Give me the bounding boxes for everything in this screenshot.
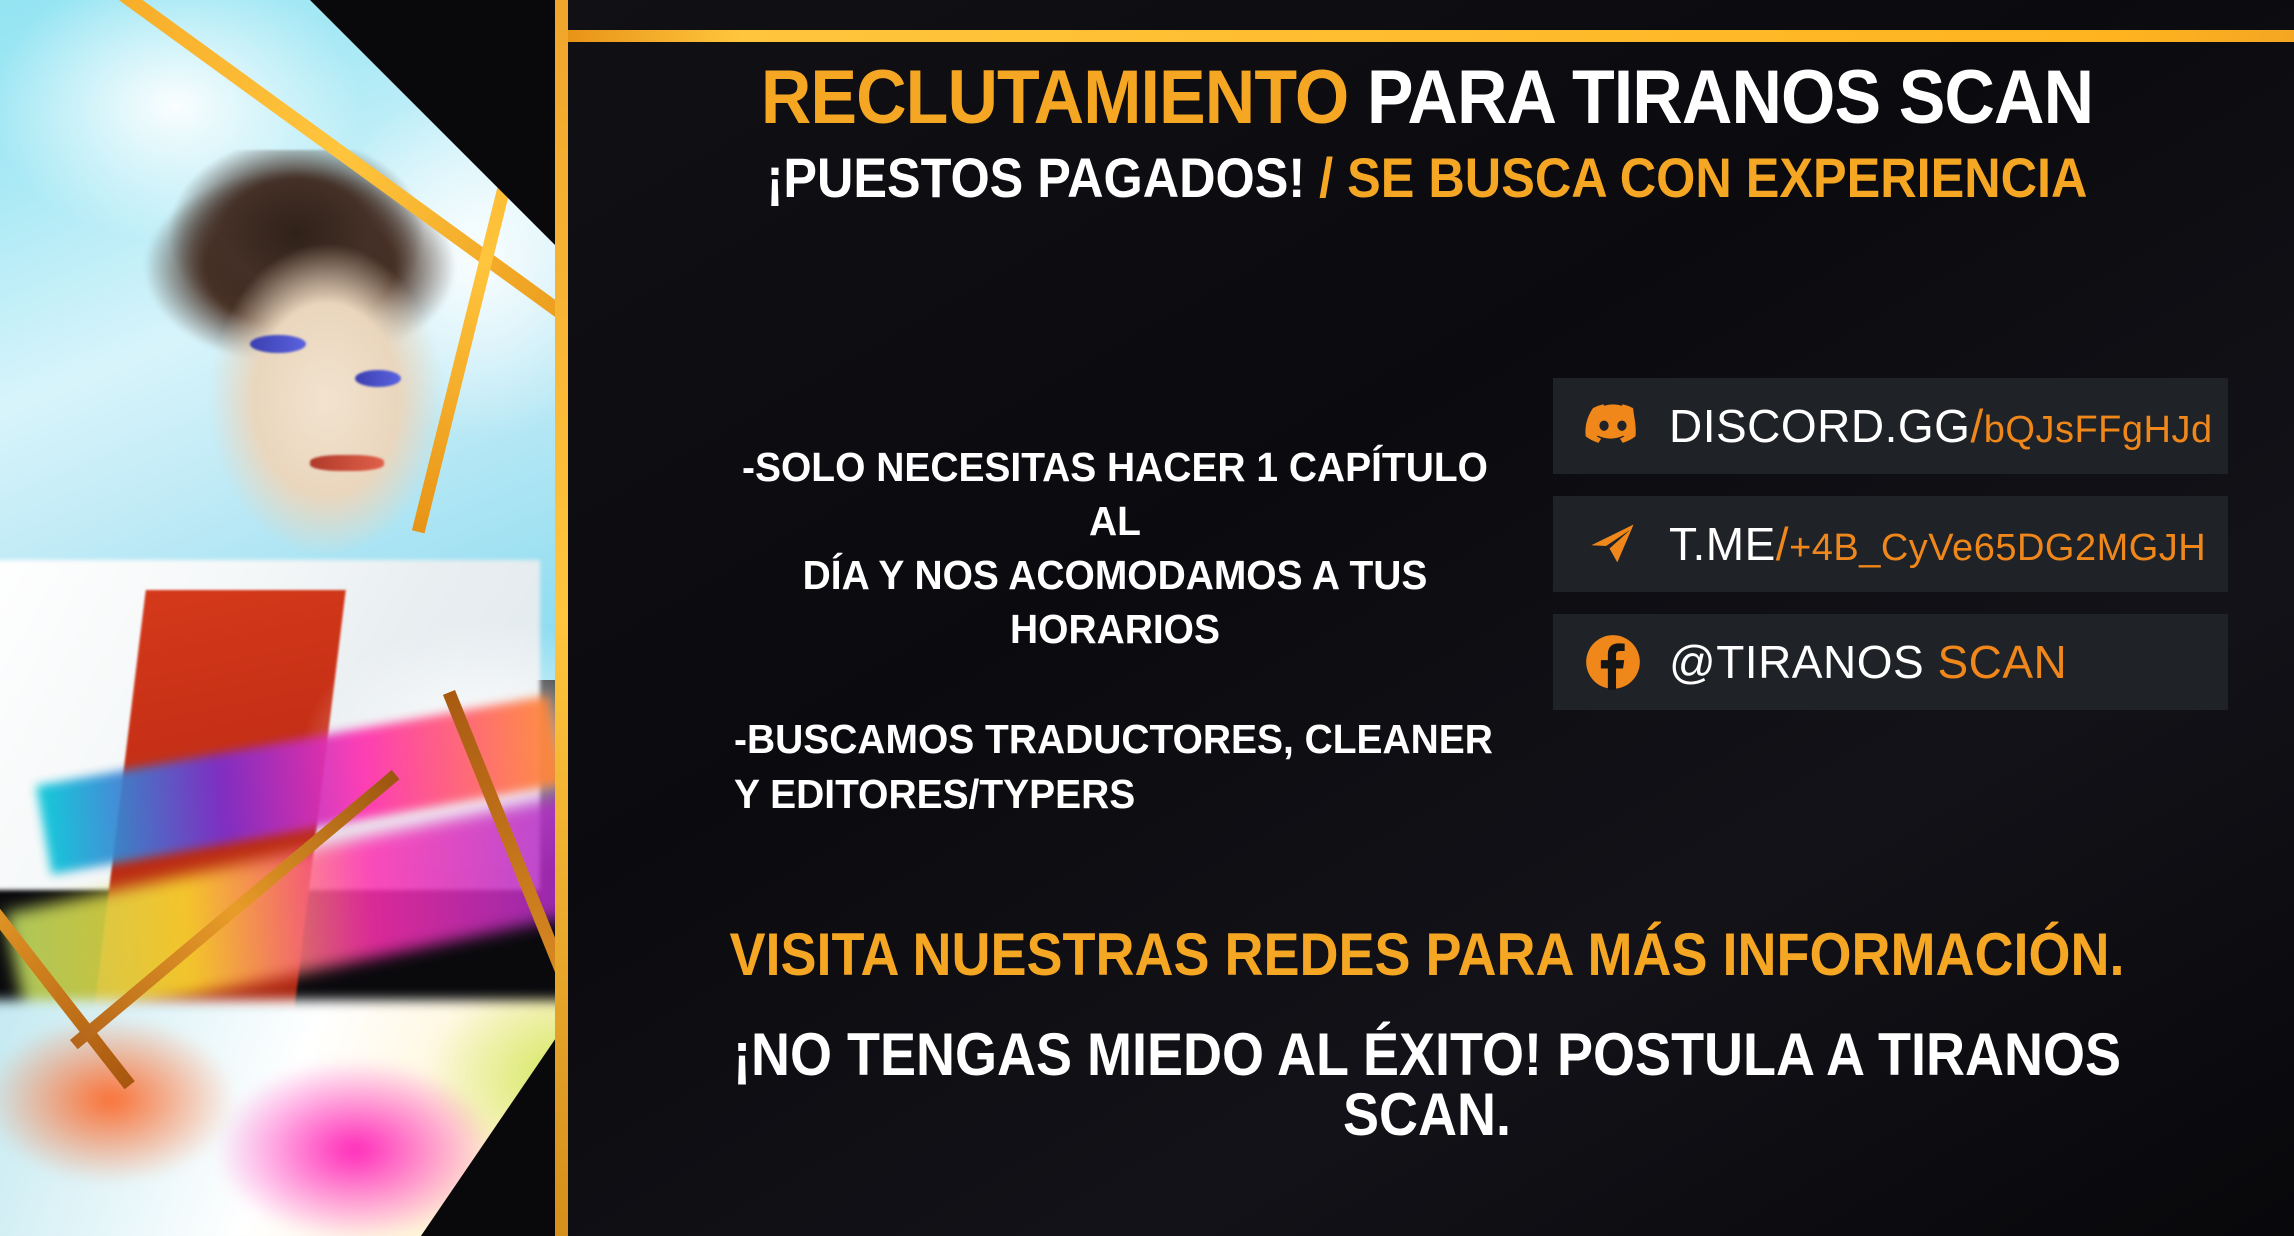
headline-rest: PARA TIRANOS SCAN	[1367, 55, 2093, 140]
telegram-link-text: T.ME/+4B_CyVe65DG2MGJH	[1669, 517, 2206, 571]
recruitment-banner: RECLUTAMIENTO PARA TIRANOS SCAN ¡PUESTOS…	[0, 0, 2294, 1236]
character-artwork-panel	[0, 0, 640, 1236]
discord-link-text: DISCORD.GG/bQJsFFgHJd	[1669, 399, 2213, 453]
contact-links: DISCORD.GG/bQJsFFgHJd T.ME/+4B_CyVe65DG2…	[1553, 378, 2228, 732]
facebook-handle-suffix: SCAN	[1937, 636, 2067, 688]
subtitle-gold: / SE BUSCA CON EXPERIENCIA	[1319, 146, 2087, 209]
artwork-character-eye-right	[355, 370, 401, 387]
facebook-handle-prefix: @TIRANOS	[1669, 636, 1924, 688]
telegram-separator: /	[1776, 518, 1789, 570]
bullet-line: Y EDITORES/TYPERS	[734, 767, 1509, 821]
facebook-link-text: @TIRANOS SCAN	[1669, 635, 2067, 689]
discord-separator: /	[1970, 400, 1983, 452]
telegram-icon	[1583, 514, 1643, 574]
bullet-item-roles: -BUSCAMOS TRADUCTORES, CLEANER Y EDITORE…	[721, 712, 1510, 820]
artwork-character-eye-left	[250, 335, 306, 353]
bullet-item-schedule: -SOLO NECESITAS HACER 1 CAPÍTULO AL DÍA …	[721, 440, 1510, 656]
contact-row-facebook[interactable]: @TIRANOS SCAN	[1553, 614, 2228, 710]
bullet-line: -SOLO NECESITAS HACER 1 CAPÍTULO AL	[721, 440, 1510, 548]
discord-invite-code: bQJsFFgHJd	[1984, 409, 2213, 451]
facebook-icon	[1583, 632, 1643, 692]
cta-line-2: ¡NO TENGAS MIEDO AL ÉXITO! POSTULA A TIR…	[683, 1025, 2172, 1145]
telegram-domain: T.ME	[1669, 518, 1776, 570]
artwork-character-mouth	[310, 455, 384, 471]
telegram-invite-code: +4B_CyVe65DG2MGJH	[1789, 527, 2206, 569]
bullet-line: DÍA Y NOS ACOMODAMOS A TUS HORARIOS	[721, 548, 1510, 656]
subtitle-white: ¡PUESTOS PAGADOS!	[767, 146, 1306, 209]
headline-highlight: RECLUTAMIENTO	[761, 55, 1349, 140]
page-title: RECLUTAMIENTO PARA TIRANOS SCAN	[666, 60, 2188, 136]
cta-line-1: VISITA NUESTRAS REDES PARA MÁS INFORMACI…	[683, 925, 2172, 985]
gold-rule-top	[568, 30, 2294, 42]
gold-vertical-divider	[555, 0, 568, 1236]
facebook-separator	[1924, 636, 1937, 688]
subtitle: ¡PUESTOS PAGADOS! / SE BUSCA CON EXPERIE…	[683, 150, 2172, 206]
contact-row-telegram[interactable]: T.ME/+4B_CyVe65DG2MGJH	[1553, 496, 2228, 592]
contact-row-discord[interactable]: DISCORD.GG/bQJsFFgHJd	[1553, 378, 2228, 474]
gold-rule-bottom	[598, 1188, 2294, 1201]
bullet-line: -BUSCAMOS TRADUCTORES, CLEANER	[734, 712, 1509, 766]
discord-domain: DISCORD.GG	[1669, 400, 1970, 452]
requirements-list: -SOLO NECESITAS HACER 1 CAPÍTULO AL DÍA …	[721, 440, 1510, 877]
discord-icon	[1583, 396, 1643, 456]
